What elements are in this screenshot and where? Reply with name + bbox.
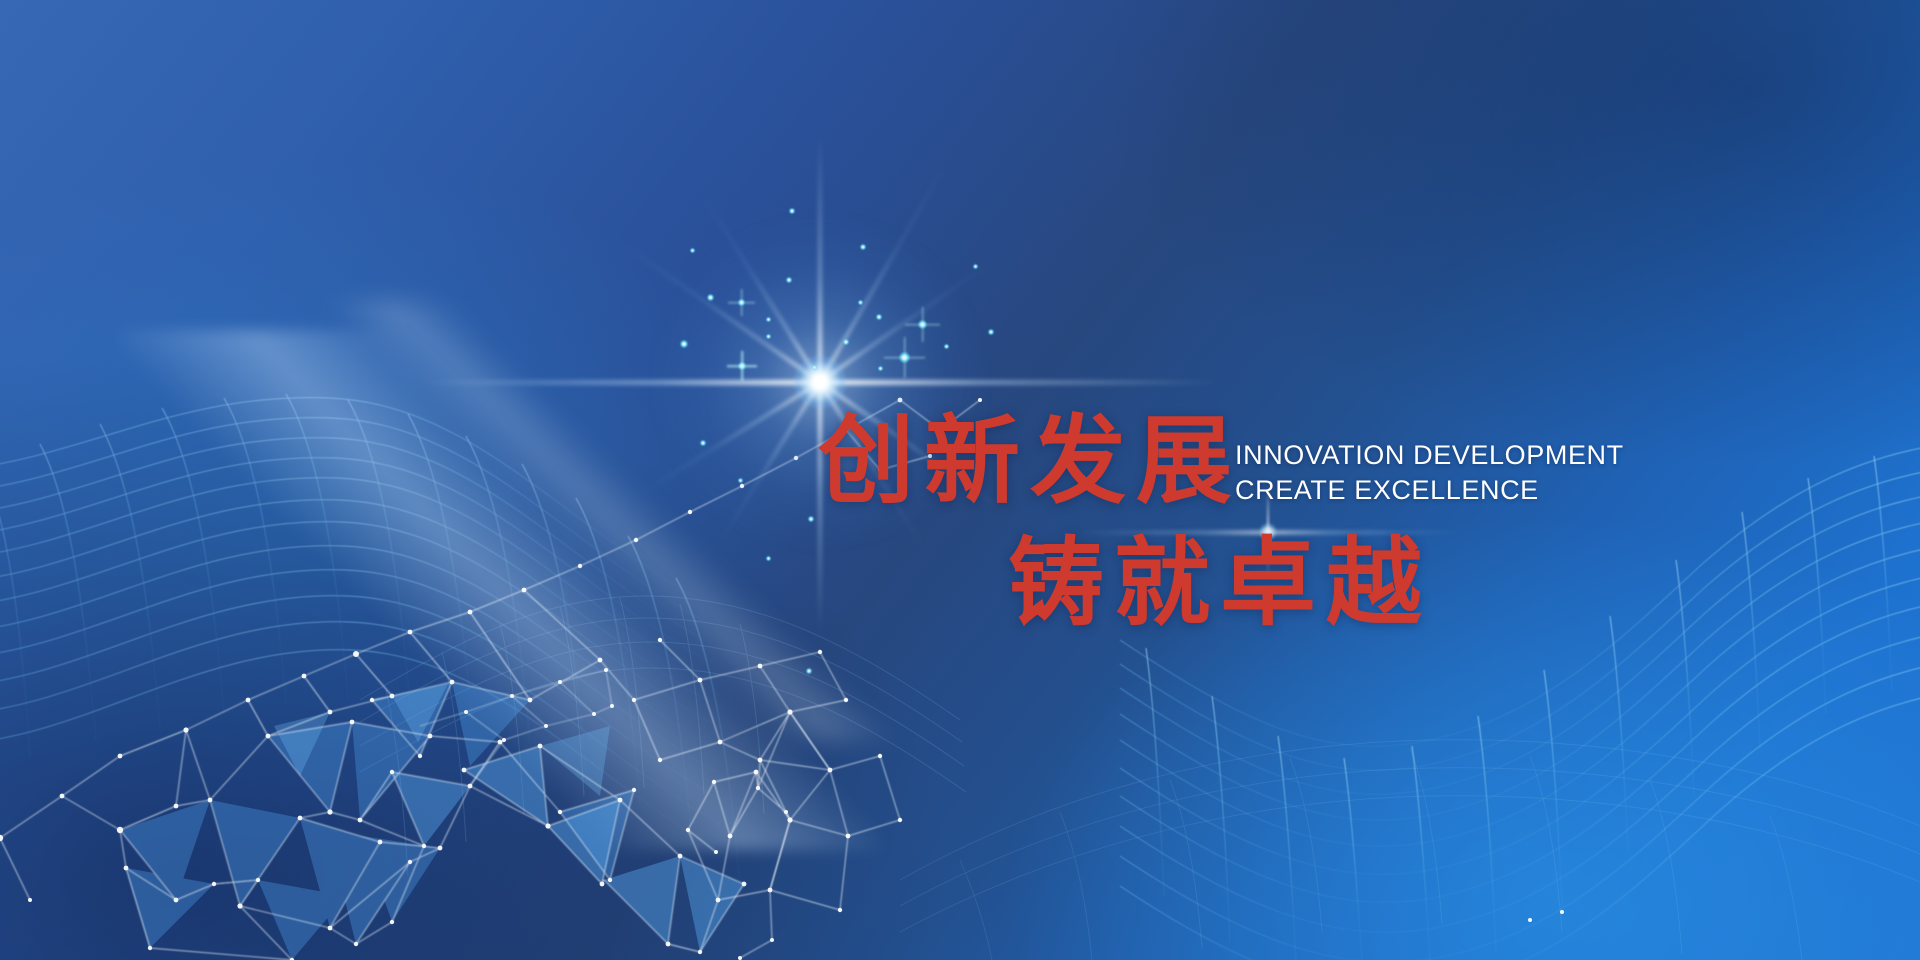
- headline-cn-line1: 创新发展: [818, 414, 1242, 510]
- tagline-en-line1: INNOVATION DEVELOPMENT: [1235, 440, 1624, 470]
- hero-banner: 创新发展 铸就卓越 INNOVATION DEVELOPMENT CREATE …: [0, 0, 1920, 960]
- headline-group: 创新发展 铸就卓越 INNOVATION DEVELOPMENT CREATE …: [0, 0, 1920, 960]
- tagline-en-line2: CREATE EXCELLENCE: [1235, 475, 1539, 505]
- headline-cn-line2: 铸就卓越: [1008, 536, 1432, 632]
